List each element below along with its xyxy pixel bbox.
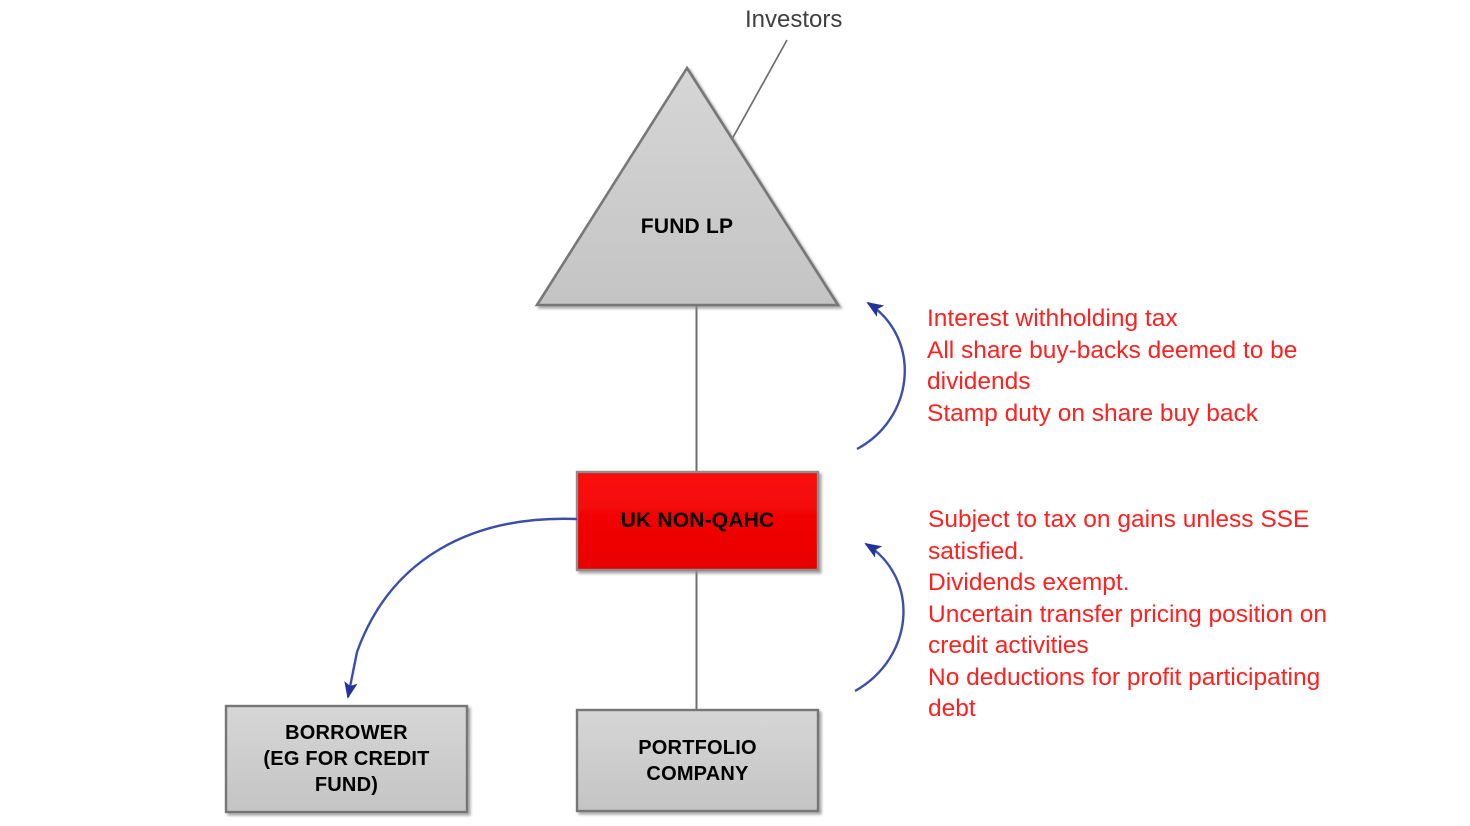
portfolio-company-box bbox=[577, 710, 818, 811]
uk-non-qahc-box bbox=[577, 472, 818, 570]
arrow-fund-annotation-pointer bbox=[857, 303, 905, 449]
arrow-holdco-annotation-pointer bbox=[855, 544, 903, 691]
diagram-canvas: Investors FUND LP UK NON-QAHC BORROWER (… bbox=[0, 0, 1470, 826]
fund-lp-triangle bbox=[537, 68, 838, 305]
investors-leader-line bbox=[731, 40, 787, 141]
diagram-svg-layer bbox=[0, 0, 1470, 826]
borrower-box bbox=[226, 706, 467, 812]
arrow-holdco-to-borrower bbox=[348, 519, 577, 697]
